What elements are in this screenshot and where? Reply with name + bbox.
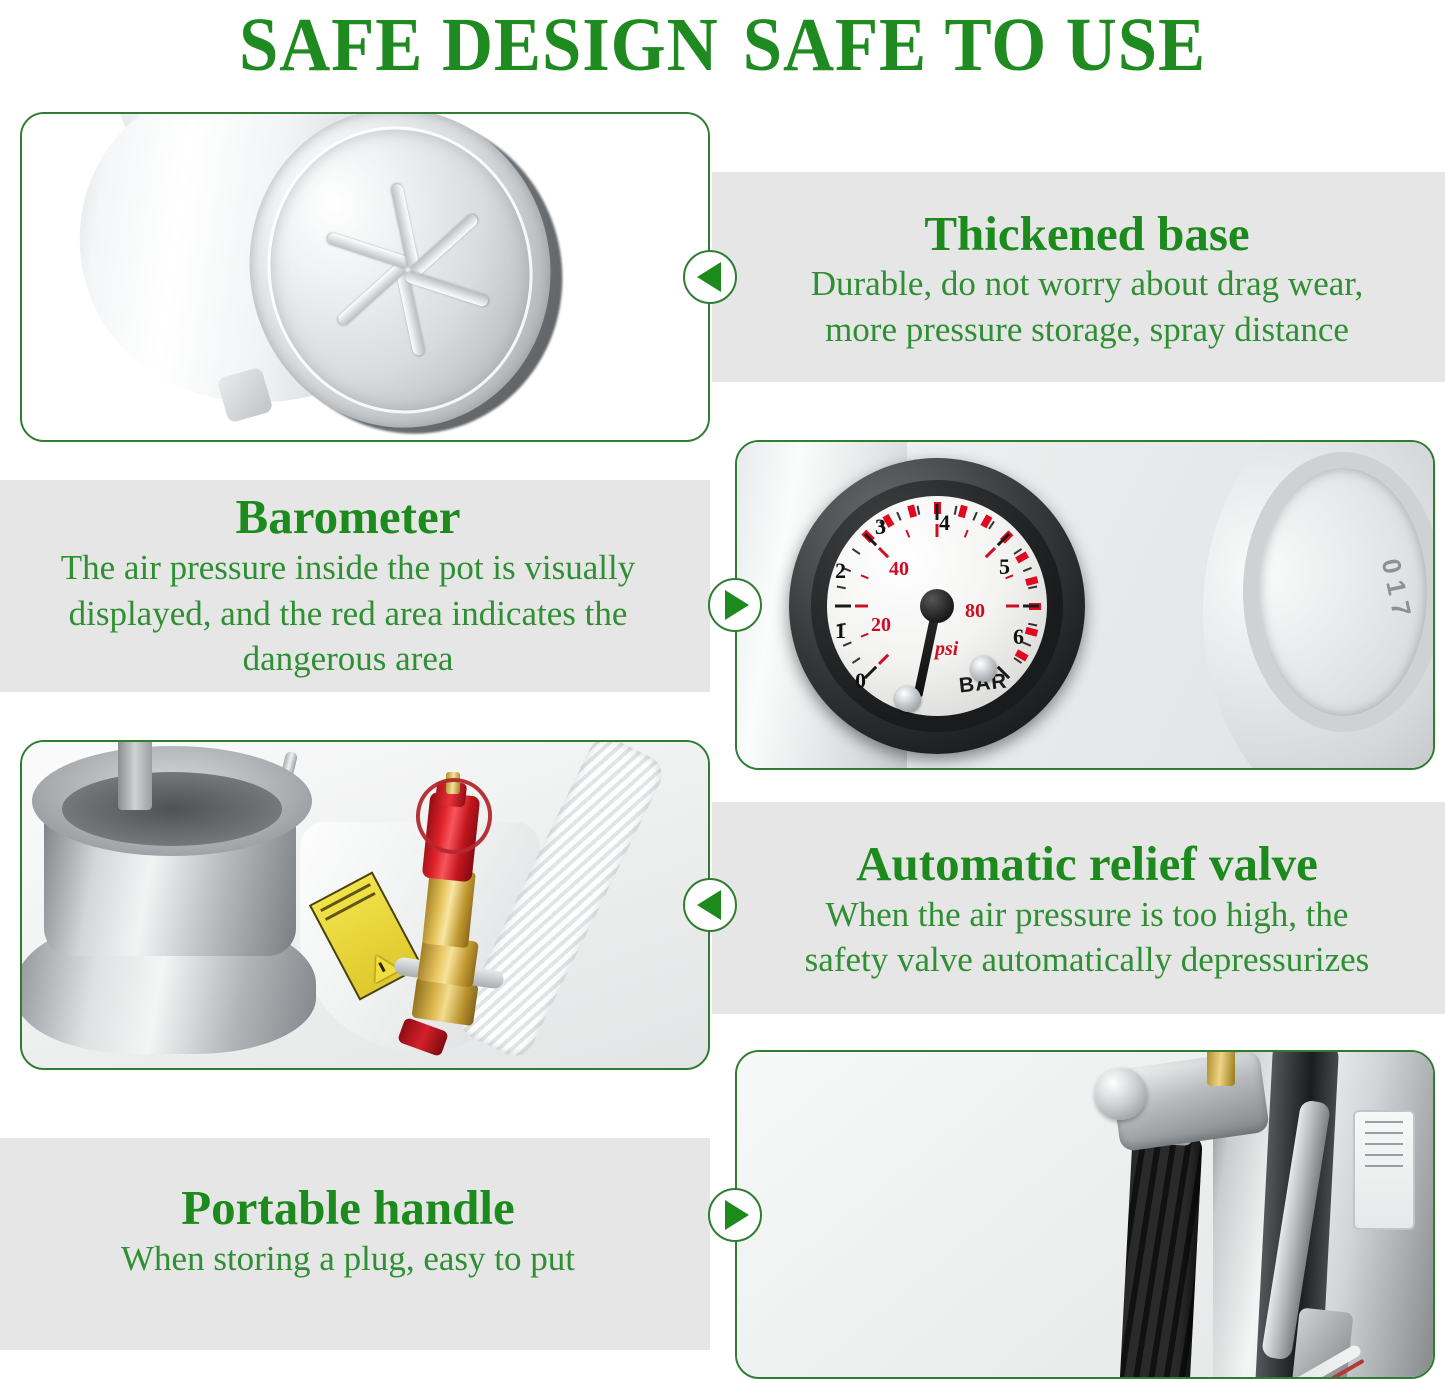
gauge-unit-psi: psi [935, 638, 958, 661]
feature-text-relief-valve: Automatic relief valve When the air pres… [742, 812, 1432, 1008]
desc-line: Durable, do not worry about drag wear, [811, 261, 1364, 307]
arrow-marker-barometer[interactable] [708, 578, 762, 632]
spray-gun-grip-shape [1117, 1130, 1203, 1379]
desc-line: When storing a plug, easy to put [121, 1236, 575, 1282]
feature-text-barometer: Barometer The air pressure inside the po… [14, 488, 682, 684]
gauge-bar-label-3: 3 [875, 514, 886, 540]
gauge-bar-label-5: 5 [999, 554, 1010, 580]
arrow-marker-portable-handle[interactable] [708, 1188, 762, 1242]
photo-barometer: 0 1 7 [737, 442, 1433, 768]
photo-thickened-base [22, 114, 708, 440]
arrow-marker-thickened-base[interactable] [683, 250, 737, 304]
feature-title-thickened-base: Thickened base [924, 207, 1249, 262]
gauge-bar-label-4: 4 [939, 510, 950, 536]
feature-text-portable-handle: Portable handle When storing a plug, eas… [14, 1146, 682, 1316]
gauge-psi-label-80: 80 [965, 600, 985, 623]
spray-gun-brass-fitting-shape [1207, 1050, 1235, 1086]
triangle-left-icon [697, 890, 721, 920]
triangle-right-icon [725, 1200, 749, 1230]
gauge-psi-label-40: 40 [889, 558, 909, 581]
page-title-part1: SAFE DESIGN [239, 2, 719, 89]
photo-card-barometer: 0 1 7 [735, 440, 1435, 770]
valve-collar-inner-shape [62, 772, 282, 846]
gauge-dial-face: 0 1 2 3 4 5 6 20 40 80 psi BAR [827, 496, 1047, 716]
pressure-gauge: 0 1 2 3 4 5 6 20 40 80 psi BAR [789, 458, 1085, 754]
spray-gun-knob-shape [1095, 1068, 1147, 1120]
page-title-part2: SAFE TO USE [743, 2, 1206, 89]
feature-desc-portable-handle: When storing a plug, easy to put [121, 1236, 575, 1282]
desc-line: more pressure storage, spray distance [811, 307, 1364, 353]
feature-desc-barometer: The air pressure inside the pot is visua… [61, 545, 635, 682]
desc-line: safety valve automatically depressurizes [805, 937, 1370, 983]
gauge-bar-label-6: 6 [1013, 624, 1024, 650]
desc-line: The air pressure inside the pot is visua… [61, 545, 635, 591]
pot-gauge-plate-shape [1353, 1110, 1415, 1230]
feature-desc-thickened-base: Durable, do not worry about drag wear, m… [811, 261, 1364, 352]
photo-relief-valve [22, 742, 708, 1068]
photo-card-thickened-base [20, 112, 710, 442]
gauge-bar-label-0: 0 [855, 668, 866, 694]
gauge-bar-label-1: 1 [835, 618, 846, 644]
gauge-needle-hub [920, 589, 954, 623]
feature-text-thickened-base: Thickened base Durable, do not worry abo… [742, 182, 1432, 377]
desc-line: When the air pressure is too high, the [805, 892, 1370, 938]
gauge-bezel: 0 1 2 3 4 5 6 20 40 80 psi BAR [811, 480, 1063, 732]
page-title: SAFE DESIGN SAFE TO USE [51, 0, 1395, 90]
gauge-screw-right [971, 656, 997, 682]
desc-line: displayed, and the red area indicates th… [61, 591, 635, 637]
infographic-root: SAFE DESIGN SAFE TO USE Thickened [0, 0, 1445, 1379]
triangle-right-icon [725, 590, 749, 620]
feature-title-relief-valve: Automatic relief valve [856, 837, 1318, 892]
gauge-psi-label-20: 20 [871, 614, 891, 637]
photo-card-portable-handle [735, 1050, 1435, 1379]
photo-portable-handle [737, 1052, 1433, 1377]
feature-title-portable-handle: Portable handle [181, 1181, 514, 1236]
triangle-left-icon [697, 262, 721, 292]
gauge-bar-label-2: 2 [835, 558, 846, 584]
feature-title-barometer: Barometer [236, 490, 461, 545]
gauge-screw-left [895, 686, 921, 712]
valve-stem-shape [118, 740, 152, 810]
feature-desc-relief-valve: When the air pressure is too high, the s… [805, 892, 1370, 983]
photo-card-relief-valve [20, 740, 710, 1070]
desc-line: dangerous area [61, 636, 635, 682]
arrow-marker-relief-valve[interactable] [683, 878, 737, 932]
